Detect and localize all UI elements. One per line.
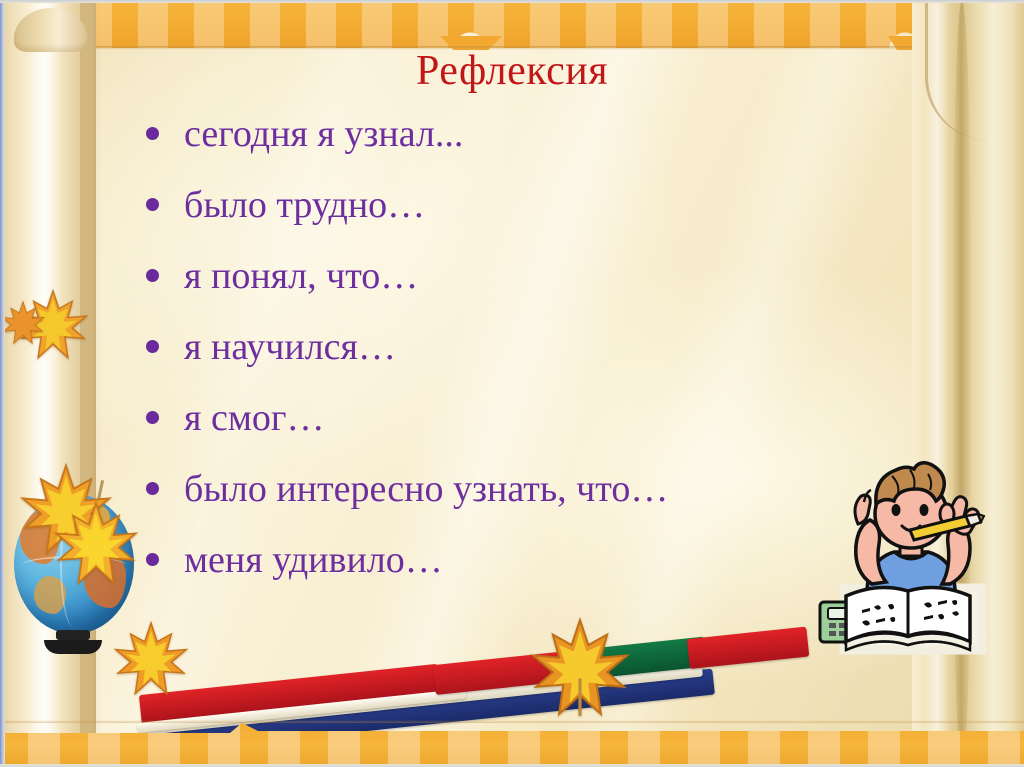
list-item-label: я смог…: [184, 396, 324, 440]
bottom-band-shadow-edge: [0, 720, 1024, 723]
list-item: сегодня я узнал...: [132, 112, 892, 183]
list-item: я понял, что…: [132, 254, 892, 325]
presentation-slide: Рефлексия сегодня я узнал... было трудно…: [0, 0, 1024, 767]
frame-edge-top: [0, 0, 1024, 3]
reading-boy-icon: [806, 452, 1016, 667]
list-item-label: я понял, что…: [184, 254, 418, 298]
list-item-label: сегодня я узнал...: [184, 112, 463, 156]
list-item-label: меня удивило…: [184, 538, 443, 582]
open-book-icon: [846, 587, 970, 650]
bullet-dot-icon: [146, 553, 159, 566]
list-item: я научился…: [132, 325, 892, 396]
top-decorative-band: [0, 0, 1024, 48]
reflection-bullet-list: сегодня я узнал... было трудно… я понял,…: [132, 112, 892, 609]
bullet-dot-icon: [146, 411, 159, 424]
page-title: Рефлексия: [0, 50, 1024, 92]
bullet-dot-icon: [146, 269, 159, 282]
list-item: было интересно узнать, что…: [132, 467, 892, 538]
list-item: меня удивило…: [132, 538, 892, 609]
bullet-dot-icon: [146, 482, 159, 495]
list-item: я смог…: [132, 396, 892, 467]
list-item-label: было трудно…: [184, 183, 425, 227]
list-item-label: я научился…: [184, 325, 396, 369]
globe-stand: [56, 630, 90, 640]
list-item-label: было интересно узнать, что…: [184, 467, 668, 511]
globe-base: [44, 640, 102, 654]
bullet-dot-icon: [146, 198, 159, 211]
bullet-dot-icon: [146, 340, 159, 353]
frame-edge-left: [0, 0, 5, 767]
list-item: было трудно…: [132, 183, 892, 254]
bullet-dot-icon: [146, 127, 159, 140]
